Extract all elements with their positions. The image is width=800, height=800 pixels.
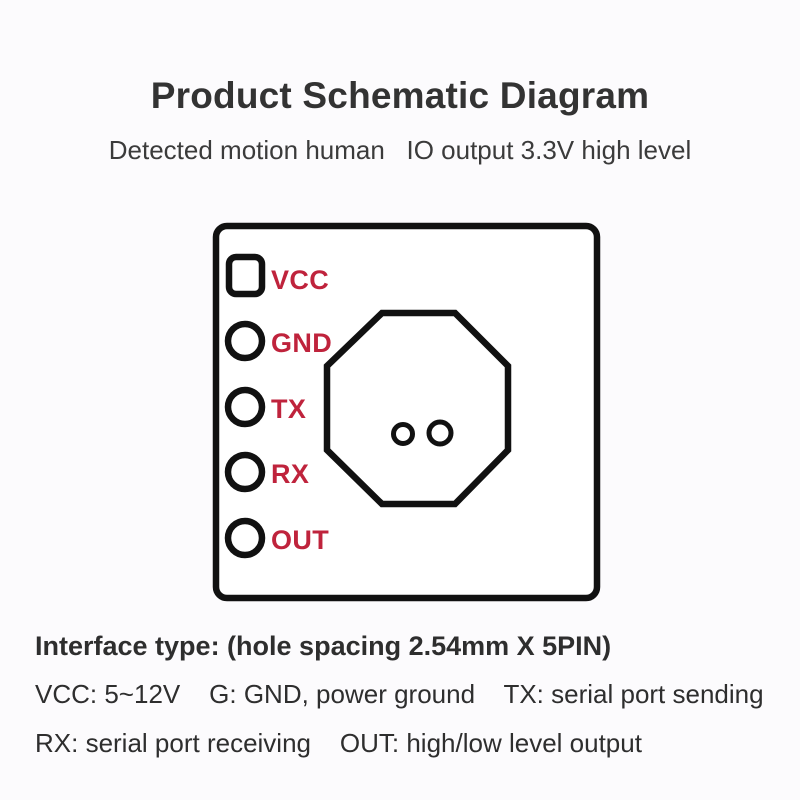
interface-description: Interface type: (hole spacing 2.54mm X 5… bbox=[35, 626, 775, 768]
pin-description-line-2: RX: serial port receiving OUT: high/low … bbox=[35, 719, 775, 768]
page-root: Product Schematic Diagram Detected motio… bbox=[0, 0, 800, 800]
pcb-board-outline bbox=[216, 226, 597, 598]
interface-type-line: Interface type: (hole spacing 2.54mm X 5… bbox=[35, 626, 775, 666]
pin-label-vcc: VCC bbox=[271, 265, 329, 295]
page-subtitle: Detected motion human IO output 3.3V hig… bbox=[0, 134, 800, 166]
pin-pad-rx bbox=[228, 455, 262, 489]
page-title: Product Schematic Diagram bbox=[0, 74, 800, 118]
sensor-hole-right bbox=[429, 422, 451, 444]
pin-label-out: OUT bbox=[271, 525, 329, 555]
pyroelectric-sensor-octagon bbox=[327, 313, 508, 504]
pin-pad-vcc bbox=[229, 257, 262, 294]
pin-label-gnd: GND bbox=[271, 328, 332, 358]
sensor-hole-left bbox=[394, 425, 413, 444]
pin-pad-out bbox=[228, 521, 262, 555]
pin-description-line-1: VCC: 5~12V G: GND, power ground TX: seri… bbox=[35, 670, 775, 719]
pin-label-rx: RX bbox=[271, 459, 309, 489]
pin-pad-tx bbox=[228, 390, 262, 424]
header: Product Schematic Diagram Detected motio… bbox=[0, 74, 800, 118]
pin-pad-gnd bbox=[228, 324, 262, 358]
pin-label-tx: TX bbox=[271, 394, 306, 424]
